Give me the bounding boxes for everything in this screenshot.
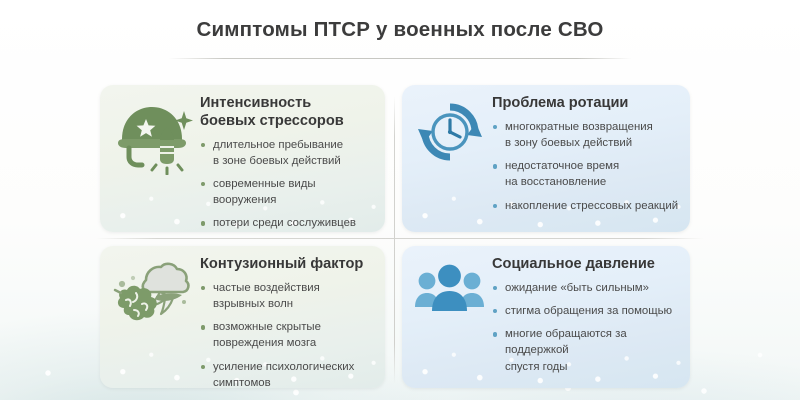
column-divider	[394, 96, 395, 384]
clock-rotation-icon	[402, 85, 486, 232]
list-item: стигма обращения за помощью	[492, 303, 682, 319]
list-item: частые воздействия взрывных волн	[200, 280, 377, 312]
bullet-list: многократные возвращения в зону боевых д…	[492, 119, 682, 214]
list-item: потери среди сослуживцев	[200, 215, 377, 231]
card-rotation[interactable]: Проблема ротации многократные возвращени…	[402, 85, 690, 232]
bullet-list: частые воздействия взрывных волн возможн…	[200, 280, 377, 388]
card-title: Социальное давление	[492, 256, 682, 274]
list-item: многократные возвращения в зону боевых д…	[492, 119, 682, 151]
card-title: Контузионный фактор	[200, 256, 377, 274]
card-social[interactable]: Социальное давление ожидание «быть сильн…	[402, 246, 690, 388]
list-item: длительное пребывание в зоне боевых дейс…	[200, 137, 377, 169]
row-divider	[96, 238, 704, 239]
card-title: Интенсивность боевых стрессоров	[200, 95, 360, 131]
card-stressors[interactable]: Интенсивность боевых стрессоров длительн…	[100, 85, 385, 232]
list-item: недостаточное время на восстановление	[492, 158, 682, 190]
list-item: накопление стрессовых реакций	[492, 198, 682, 214]
bullet-list: длительное пребывание в зоне боевых дейс…	[200, 137, 377, 232]
list-item: возможные скрытые повреждения мозга	[200, 319, 377, 351]
list-item: многие обращаются за поддержкой спустя г…	[492, 326, 682, 375]
title-divider	[168, 58, 632, 59]
military-helmet-bullet-icon	[100, 85, 194, 232]
list-item: ожидание «быть сильным»	[492, 280, 682, 296]
list-item: усиление психологических симптомов	[200, 359, 377, 388]
bullet-list: ожидание «быть сильным» стигма обращения…	[492, 280, 682, 375]
card-contusion[interactable]: Контузионный фактор частые воздействия в…	[100, 246, 385, 388]
slide-canvas: Симптомы ПТСР у военных после СВО	[0, 0, 800, 400]
group-people-icon	[402, 246, 486, 388]
card-title: Проблема ротации	[492, 95, 682, 113]
list-item: современные виды вооружения	[200, 176, 377, 208]
page-title: Симптомы ПТСР у военных после СВО	[0, 18, 800, 42]
brain-blast-icon	[100, 246, 194, 388]
